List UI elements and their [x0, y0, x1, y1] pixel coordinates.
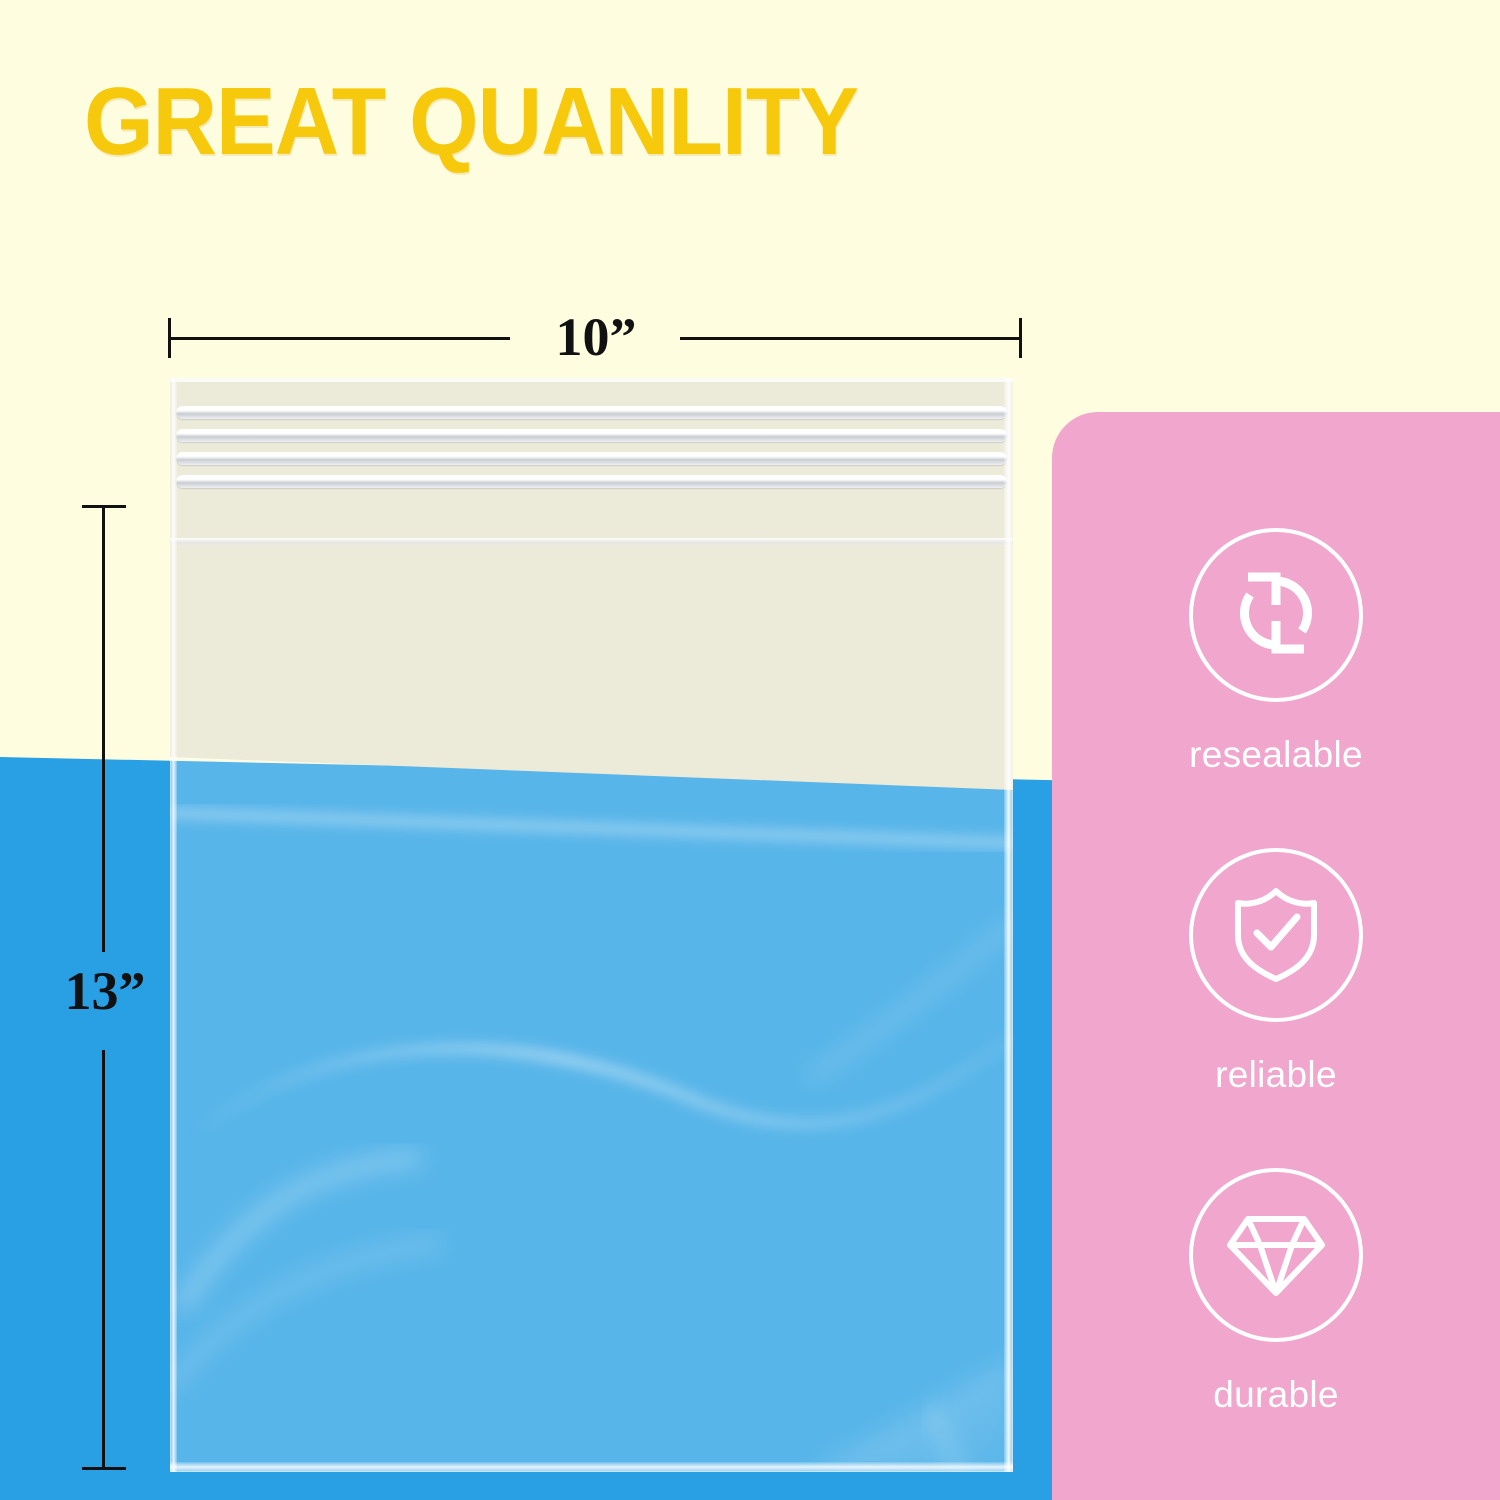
page-title: GREAT QUANLITY	[84, 74, 858, 170]
feature-icon-ring	[1189, 528, 1363, 702]
product-zip-bag	[170, 378, 1013, 1472]
refresh-icon	[1224, 561, 1328, 670]
height-dimension: 13”	[82, 505, 126, 1470]
infographic-canvas: GREAT QUANLITY	[0, 0, 1500, 1500]
feature-resealable: resealable	[1052, 528, 1500, 776]
zipper-ridge	[176, 429, 1007, 442]
bag-edge-top	[170, 378, 1013, 382]
feature-label: resealable	[1052, 734, 1500, 776]
feature-label: reliable	[1052, 1054, 1500, 1096]
bag-zipper	[176, 406, 1007, 502]
width-tick-right	[1019, 318, 1022, 358]
width-label: 10”	[526, 306, 666, 368]
bag-edge-bottom	[170, 1462, 1013, 1472]
bag-seal-line	[170, 538, 1013, 547]
height-rule-top	[102, 505, 105, 952]
feature-label: durable	[1052, 1374, 1500, 1416]
height-tick-bottom	[82, 1467, 126, 1470]
zipper-ridge	[176, 406, 1007, 419]
feature-icon-ring	[1189, 848, 1363, 1022]
feature-reliable: reliable	[1052, 848, 1500, 1096]
bag-edge-right	[1004, 378, 1013, 1472]
zipper-ridge	[176, 475, 1007, 488]
shield-check-icon	[1226, 881, 1326, 990]
height-rule-bottom	[102, 1050, 105, 1470]
zipper-ridge	[176, 452, 1007, 465]
width-dimension: 10”	[168, 318, 1022, 358]
bag-edge-left	[170, 378, 177, 1472]
feature-icon-ring	[1189, 1168, 1363, 1342]
feature-durable: durable	[1052, 1168, 1500, 1416]
height-label: 13”	[50, 960, 160, 1022]
diamond-icon	[1224, 1205, 1328, 1306]
width-rule-right	[680, 337, 1022, 340]
feature-panel: resealable reliable	[1052, 412, 1500, 1500]
width-rule-left	[168, 337, 510, 340]
